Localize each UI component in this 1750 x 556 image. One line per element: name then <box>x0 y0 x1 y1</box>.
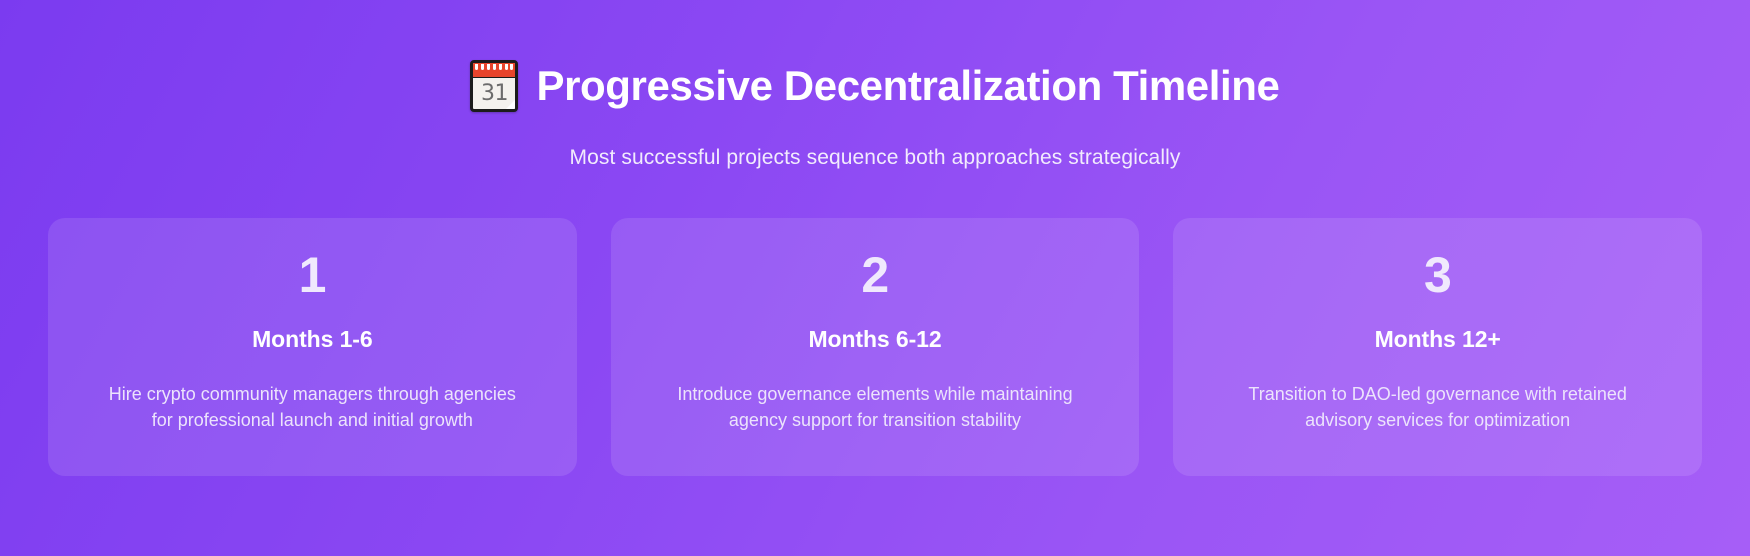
phase-description: Transition to DAO-led governance with re… <box>1228 381 1648 433</box>
header-block: 31 Progressive Decentralization Timeline… <box>48 44 1702 170</box>
calendar-rings <box>475 64 513 70</box>
calendar-31-icon: 31 <box>470 60 518 112</box>
phase-label: Months 12+ <box>1375 326 1501 353</box>
phase-card-2: 2 Months 6-12 Introduce governance eleme… <box>611 218 1140 476</box>
page-title: Progressive Decentralization Timeline <box>536 63 1279 109</box>
timeline-panel: 31 Progressive Decentralization Timeline… <box>0 0 1750 556</box>
phase-label: Months 6-12 <box>808 326 941 353</box>
phase-description: Hire crypto community managers through a… <box>102 381 522 433</box>
phase-card-3: 3 Months 12+ Transition to DAO-led gover… <box>1173 218 1702 476</box>
calendar-page-fold <box>506 100 515 109</box>
phase-number: 3 <box>1424 250 1451 300</box>
phase-number: 2 <box>861 250 888 300</box>
phase-label: Months 1-6 <box>252 326 372 353</box>
phase-number: 1 <box>299 250 326 300</box>
phase-description: Introduce governance elements while main… <box>665 381 1085 433</box>
phase-cards-row: 1 Months 1-6 Hire crypto community manag… <box>48 218 1702 476</box>
title-row: 31 Progressive Decentralization Timeline <box>470 60 1279 112</box>
page-subtitle: Most successful projects sequence both a… <box>570 146 1181 170</box>
phase-card-1: 1 Months 1-6 Hire crypto community manag… <box>48 218 577 476</box>
